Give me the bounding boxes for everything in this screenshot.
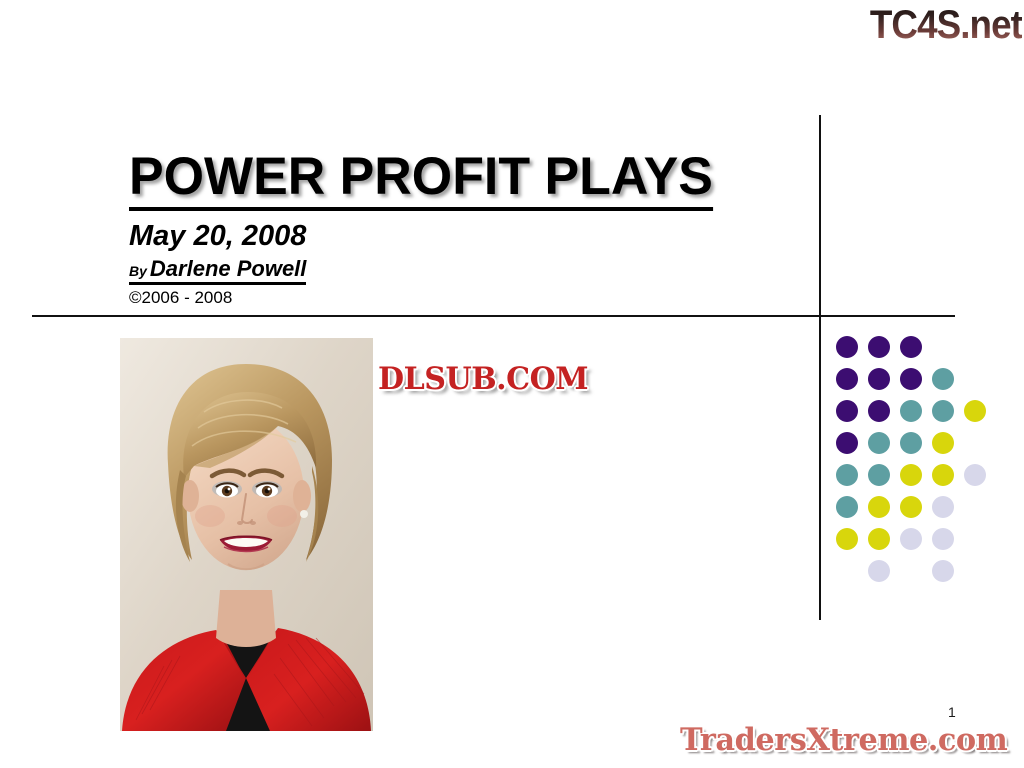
grid-dot <box>900 336 922 358</box>
grid-dot <box>932 464 954 486</box>
vertical-divider-rule <box>819 115 821 620</box>
tradersxtreme-logo: TradersXtreme.com <box>680 722 1007 758</box>
grid-dot <box>932 400 954 422</box>
presenter-portrait-photo <box>120 338 373 731</box>
grid-dot <box>932 368 954 390</box>
grid-dot <box>836 336 858 358</box>
grid-dot <box>836 464 858 486</box>
grid-dot <box>900 464 922 486</box>
grid-dot <box>836 400 858 422</box>
grid-dot <box>836 432 858 454</box>
presentation-date: May 20, 2008 <box>129 219 809 253</box>
byline-author-name: Darlene Powell <box>150 256 307 281</box>
grid-dot <box>932 560 954 582</box>
grid-dot <box>932 496 954 518</box>
grid-dot <box>900 400 922 422</box>
page-number: 1 <box>948 703 956 721</box>
dot-grid-decoration <box>836 336 1011 591</box>
dlsub-watermark: DLSUB.COM <box>378 362 588 396</box>
grid-dot <box>868 528 890 550</box>
grid-dot <box>900 368 922 390</box>
page-title: POWER PROFIT PLAYS <box>129 148 713 211</box>
grid-dot <box>868 336 890 358</box>
grid-dot <box>932 528 954 550</box>
byline-prefix-label: By <box>129 263 147 279</box>
horizontal-divider-rule <box>32 315 955 317</box>
grid-dot <box>836 496 858 518</box>
slide-canvas: TC4S.net POWER PROFIT PLAYS May 20, 2008… <box>0 0 1024 768</box>
tc4s-logo: TC4S.net <box>847 2 1022 50</box>
grid-dot <box>868 432 890 454</box>
title-block: POWER PROFIT PLAYS May 20, 2008 ByDarlen… <box>129 148 809 308</box>
copyright-notice: ©2006 - 2008 <box>129 288 809 308</box>
grid-dot <box>964 464 986 486</box>
grid-dot <box>868 464 890 486</box>
grid-dot <box>932 432 954 454</box>
byline: ByDarlene Powell <box>129 257 306 285</box>
grid-dot <box>900 432 922 454</box>
grid-dot <box>868 368 890 390</box>
grid-dot <box>964 400 986 422</box>
grid-dot <box>868 400 890 422</box>
grid-dot <box>836 528 858 550</box>
grid-dot <box>868 496 890 518</box>
grid-dot <box>900 496 922 518</box>
grid-dot <box>900 528 922 550</box>
grid-dot <box>868 560 890 582</box>
grid-dot <box>836 368 858 390</box>
